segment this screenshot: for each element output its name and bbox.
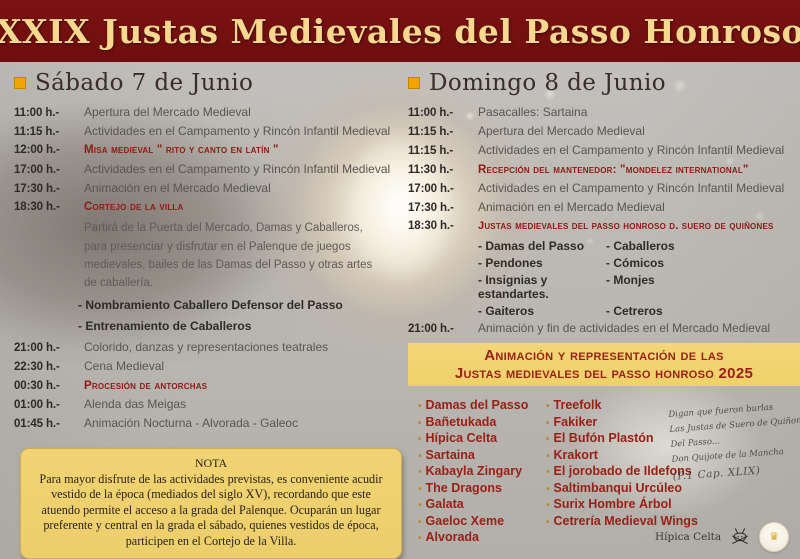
sunday-column: Domingo 8 de Junio 11:00 h.- Pasacalles:… bbox=[408, 70, 800, 341]
parade-item: - Gaiteros bbox=[478, 304, 606, 318]
group-item: •Treefolk bbox=[546, 398, 686, 412]
schedule-row: 17:00 h.- Actividades en el Campamento y… bbox=[408, 182, 800, 196]
band-line-1: Animación y Representación de las bbox=[484, 347, 724, 364]
schedule-time: 21:00 h.- bbox=[14, 342, 78, 355]
group-label: Hípica Celta bbox=[426, 431, 498, 445]
bullet-dot-icon: • bbox=[546, 501, 550, 511]
poster-root: XXIX Justas Medievales del Passo Honroso… bbox=[0, 0, 800, 559]
participating-groups: •Damas del Passo •Bañetukada •Hípica Cel… bbox=[418, 398, 678, 544]
schedule-row: 11:15 h.- Actividades en el Campamento y… bbox=[408, 144, 800, 158]
bullet-dot-icon: • bbox=[418, 518, 422, 528]
schedule-time: 12:00 h.- bbox=[14, 144, 78, 157]
bullet-dot-icon: • bbox=[418, 452, 422, 462]
schedule-time: 11:15 h.- bbox=[14, 126, 78, 139]
hipica-celta-label: Hípica Celta bbox=[655, 531, 721, 543]
schedule-desc: Animación en el Mercado Medieval bbox=[478, 201, 665, 215]
group-label: Fakiker bbox=[554, 415, 598, 429]
group-label: Kabayla Zingary bbox=[426, 464, 523, 478]
saturday-column: Sábado 7 de Junio 11:00 h.- Apertura del… bbox=[14, 70, 406, 436]
bullet-dot-icon: • bbox=[546, 485, 550, 495]
schedule-time: 00:30 h.- bbox=[14, 380, 78, 393]
group-item: •Fakiker bbox=[546, 415, 686, 429]
group-label: El Bufón Plastón bbox=[554, 431, 654, 445]
nota-box: NOTA Para mayor disfrute de las activida… bbox=[20, 448, 402, 559]
schedule-desc: Animación Nocturna - Alvorada - Galeoc bbox=[84, 417, 298, 431]
saturday-day-header: Sábado 7 de Junio bbox=[14, 70, 406, 96]
parade-item: - Cetreros bbox=[606, 304, 726, 318]
groups-column-left: •Damas del Passo •Bañetukada •Hípica Cel… bbox=[418, 398, 538, 544]
group-item: •Kabayla Zingary bbox=[418, 464, 538, 478]
group-item: •El Bufón Plastón bbox=[546, 431, 686, 445]
bullet-dot-icon: • bbox=[546, 419, 550, 429]
animation-band: Animación y Representación de las Justas… bbox=[408, 343, 800, 386]
schedule-desc: Colorido, danzas y representaciones teat… bbox=[84, 341, 328, 355]
parade-item: - Monjes bbox=[606, 273, 726, 301]
group-label: The Dragons bbox=[426, 481, 502, 495]
square-bullet-icon bbox=[14, 77, 26, 89]
group-item: •Damas del Passo bbox=[418, 398, 538, 412]
bullet-dot-icon: • bbox=[546, 452, 550, 462]
schedule-row: 21:00 h.- Animación y fin de actividades… bbox=[408, 322, 800, 336]
schedule-row: 17:30 h.- Animación en el Mercado Mediev… bbox=[408, 201, 800, 215]
group-item: •Surix Hombre Árbol bbox=[546, 497, 686, 511]
schedule-time: 22:30 h.- bbox=[14, 361, 78, 374]
schedule-row: 18:30 h.- Justas Medievales del Passo Ho… bbox=[408, 220, 800, 233]
parade-item: - Pendones bbox=[478, 256, 606, 270]
schedule-time: 21:00 h.- bbox=[408, 323, 472, 336]
schedule-desc-highlight: Recepción del Mantenedor: "Mondelez Inte… bbox=[478, 164, 749, 177]
bullet-dot-icon: • bbox=[418, 501, 422, 511]
schedule-desc-highlight: Justas Medievales del Passo Honroso D. S… bbox=[478, 220, 774, 233]
group-item: •Krakort bbox=[546, 448, 686, 462]
sunday-title: Domingo 8 de Junio bbox=[429, 70, 666, 96]
group-item: •Bañetukada bbox=[418, 415, 538, 429]
group-label: Gaeloc Xeme bbox=[426, 514, 505, 528]
schedule-row: 12:00 h.- Misa Medieval " Rito y Canto e… bbox=[14, 144, 406, 157]
schedule-row: 11:30 h.- Recepción del Mantenedor: "Mon… bbox=[408, 164, 800, 177]
schedule-time: 17:00 h.- bbox=[408, 183, 472, 196]
bullet-dot-icon: • bbox=[546, 402, 550, 412]
group-label: Treefolk bbox=[554, 398, 602, 412]
nota-title: NOTA bbox=[31, 456, 391, 471]
bullet-dot-icon: • bbox=[418, 534, 422, 544]
schedule-time: 11:15 h.- bbox=[408, 145, 472, 158]
group-item: •The Dragons bbox=[418, 481, 538, 495]
group-label: Surix Hombre Árbol bbox=[554, 497, 672, 511]
schedule-row: 11:15 h.- Actividades en el Campamento y… bbox=[14, 125, 406, 139]
schedule-desc: Apertura del Mercado Medieval bbox=[84, 106, 251, 120]
schedule-time: 18:30 h.- bbox=[14, 201, 78, 214]
group-label: Alvorada bbox=[426, 530, 480, 544]
group-item: •Saltimbanqui Urcúleo bbox=[546, 481, 686, 495]
schedule-time: 17:00 h.- bbox=[14, 164, 78, 177]
schedule-time: 11:15 h.- bbox=[408, 126, 472, 139]
square-bullet-icon bbox=[408, 77, 420, 89]
parade-item: - Damas del Passo bbox=[478, 239, 606, 253]
schedule-desc: Actividades en el Campamento y Rincón In… bbox=[478, 182, 784, 196]
schedule-desc: Alenda das Meigas bbox=[84, 398, 186, 412]
schedule-time: 17:30 h.- bbox=[14, 183, 78, 196]
group-item: •El jorobado de Ildefons bbox=[546, 464, 686, 478]
bullet-dot-icon: • bbox=[546, 518, 550, 528]
group-item: •Galata bbox=[418, 497, 538, 511]
schedule-desc-highlight: Cortejo de la Villa bbox=[84, 201, 183, 214]
schedule-time: 11:30 h.- bbox=[408, 164, 472, 177]
schedule-row: 22:30 h.- Cena Medieval bbox=[14, 360, 406, 374]
saturday-title: Sábado 7 de Junio bbox=[35, 70, 253, 96]
schedule-desc: Actividades en el Campamento y Rincón In… bbox=[84, 125, 390, 139]
saturday-schedule-list: 11:00 h.- Apertura del Mercado Medieval … bbox=[14, 106, 406, 214]
schedule-time: 01:45 h.- bbox=[14, 418, 78, 431]
schedule-time: 17:30 h.- bbox=[408, 202, 472, 215]
sunday-schedule-list: 11:00 h.- Pasacalles: Sartaina 11:15 h.-… bbox=[408, 106, 800, 234]
group-item: •Hípica Celta bbox=[418, 431, 538, 445]
header-banner: XXIX Justas Medievales del Passo Honroso bbox=[0, 0, 800, 62]
schedule-desc: Animación en el Mercado Medieval bbox=[84, 182, 271, 196]
cortejo-description: Partirá de la Puerta del Mercado, Damas … bbox=[84, 219, 384, 293]
crown-seal-icon: ♛ bbox=[759, 522, 789, 552]
band-line-2: Justas Medievales del Passo Honroso 2025 bbox=[455, 365, 753, 382]
group-label: Saltimbanqui Urcúleo bbox=[554, 481, 683, 495]
schedule-time: 11:00 h.- bbox=[14, 107, 78, 120]
group-item: •Sartaina bbox=[418, 448, 538, 462]
bullet-dot-icon: • bbox=[418, 485, 422, 495]
parade-participants-list: - Damas del Passo - Caballeros - Pendone… bbox=[478, 239, 800, 318]
bullet-dot-icon: • bbox=[546, 435, 550, 445]
group-label: Krakort bbox=[554, 448, 598, 462]
sunday-late-schedule-list: 21:00 h.- Animación y fin de actividades… bbox=[408, 322, 800, 336]
schedule-desc: Cena Medieval bbox=[84, 360, 164, 374]
schedule-desc: Actividades en el Campamento y Rincón In… bbox=[478, 144, 784, 158]
schedule-row: 01:45 h.- Animación Nocturna - Alvorada … bbox=[14, 417, 406, 431]
schedule-desc: Animación y fin de actividades en el Mer… bbox=[478, 322, 770, 336]
bullet-dot-icon: • bbox=[546, 468, 550, 478]
schedule-row: 01:00 h.- Alenda das Meigas bbox=[14, 398, 406, 412]
schedule-row: 17:00 h.- Actividades en el Campamento y… bbox=[14, 163, 406, 177]
parade-item: - Insignias y estandartes. bbox=[478, 273, 606, 301]
schedule-desc: Actividades en el Campamento y Rincón In… bbox=[84, 163, 390, 177]
schedule-row: 11:00 h.- Pasacalles: Sartaina bbox=[408, 106, 800, 120]
schedule-row: 18:30 h.- Cortejo de la Villa bbox=[14, 201, 406, 214]
bullet-dot-icon: • bbox=[418, 435, 422, 445]
schedule-row: 11:00 h.- Apertura del Mercado Medieval bbox=[14, 106, 406, 120]
crown-glyph: ♛ bbox=[769, 532, 779, 543]
group-label: Sartaina bbox=[426, 448, 475, 462]
schedule-desc: Apertura del Mercado Medieval bbox=[478, 125, 645, 139]
schedule-desc: Pasacalles: Sartaina bbox=[478, 106, 587, 120]
cortejo-subitem: - Entrenamiento de Caballeros bbox=[78, 317, 406, 336]
cortejo-subitem: - Nombramiento Caballero Defensor del Pa… bbox=[78, 296, 406, 315]
group-item: •Gaeloc Xeme bbox=[418, 514, 538, 528]
schedule-desc-highlight: Misa Medieval " Rito y Canto en Latín " bbox=[84, 144, 279, 157]
parade-item: - Caballeros bbox=[606, 239, 726, 253]
parade-item: - Cómicos bbox=[606, 256, 726, 270]
schedule-row: 21:00 h.- Colorido, danzas y representac… bbox=[14, 341, 406, 355]
schedule-row: 11:15 h.- Apertura del Mercado Medieval bbox=[408, 125, 800, 139]
group-label: El jorobado de Ildefons bbox=[554, 464, 692, 478]
bullet-dot-icon: • bbox=[418, 419, 422, 429]
schedule-row: 17:30 h.- Animación en el Mercado Mediev… bbox=[14, 182, 406, 196]
schedule-time: 01:00 h.- bbox=[14, 399, 78, 412]
sunday-day-header: Domingo 8 de Junio bbox=[408, 70, 800, 96]
bullet-dot-icon: • bbox=[418, 402, 422, 412]
bullet-dot-icon: • bbox=[418, 468, 422, 478]
schedule-time: 18:30 h.- bbox=[408, 220, 472, 233]
schedule-row: 00:30 h.- Procesión de Antorchas bbox=[14, 380, 406, 393]
page-title: XXIX Justas Medievales del Passo Honroso bbox=[0, 12, 800, 51]
schedule-time: 11:00 h.- bbox=[408, 107, 472, 120]
group-label: Galata bbox=[426, 497, 464, 511]
horse-head-icon bbox=[729, 526, 751, 548]
saturday-late-schedule-list: 21:00 h.- Colorido, danzas y representac… bbox=[14, 341, 406, 431]
group-label: Damas del Passo bbox=[426, 398, 529, 412]
footer-logos: Hípica Celta ♛ bbox=[655, 520, 800, 554]
group-label: Bañetukada bbox=[426, 415, 497, 429]
nota-body: Para mayor disfrute de las actividades p… bbox=[31, 472, 391, 549]
quijote-quote: Digan que fueron burlas Las Justas de Su… bbox=[668, 399, 800, 486]
group-item: •Alvorada bbox=[418, 530, 538, 544]
schedule-desc-highlight: Procesión de Antorchas bbox=[84, 380, 207, 393]
